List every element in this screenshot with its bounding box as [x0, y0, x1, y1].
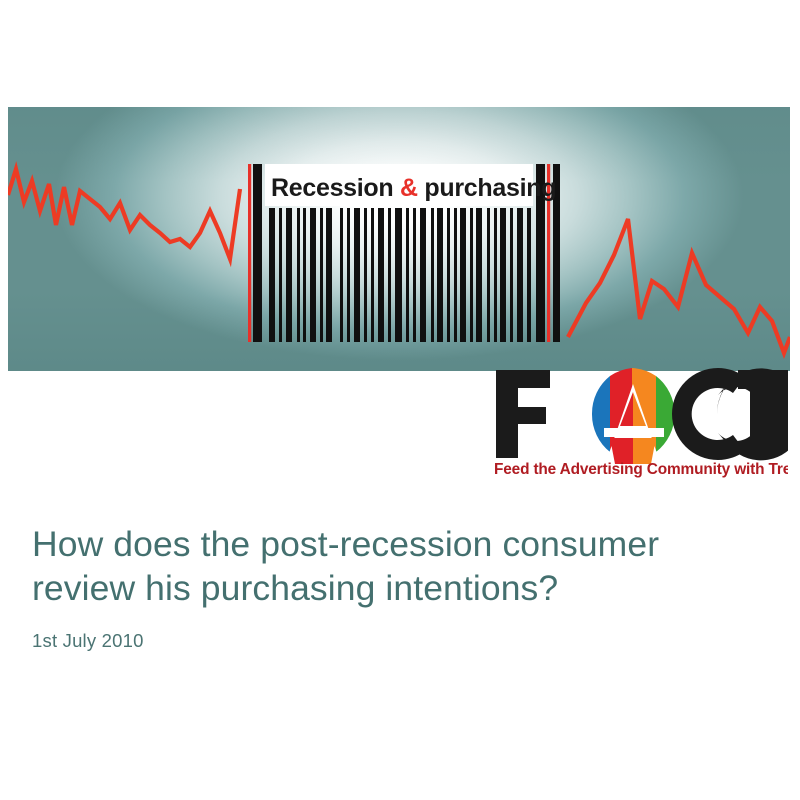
logo-mark-a-crossbar-gap	[604, 428, 664, 437]
barcode-graphic: Recession & purchasing intention	[247, 164, 561, 344]
fact-logo: Feed the Advertising Community with Tren…	[492, 366, 788, 478]
barcode-caption: Recession & purchasing intention	[271, 174, 561, 202]
decline-line-right	[568, 219, 790, 353]
title-slide: Recession & purchasing intention	[0, 0, 800, 800]
logo-mark-circle-a	[592, 368, 675, 464]
barcode-guard-left	[248, 164, 251, 342]
barcode-caption-before: Recession	[271, 174, 400, 202]
logo-segment-green	[656, 376, 675, 452]
page-title: How does the post-recession consumer rev…	[32, 522, 752, 610]
title-block: How does the post-recession consumer rev…	[32, 522, 752, 652]
barcode-caption-accent: &	[400, 174, 418, 202]
barcode-caption-after: purchasing intention	[418, 174, 561, 202]
fact-logo-svg: Feed the Advertising Community with Tren…	[492, 366, 788, 478]
recession-banner-image: Recession & purchasing intention	[8, 107, 790, 371]
slide-date: 1st July 2010	[32, 610, 752, 652]
logo-tagline: Feed the Advertising Community with Tren…	[494, 461, 788, 478]
logo-letter-f	[496, 370, 550, 458]
barcode-bar-terminator-left	[253, 164, 262, 342]
barcode-bars	[269, 208, 531, 342]
barcode-svg: Recession & purchasing intention	[247, 164, 561, 344]
decline-line-left	[8, 169, 240, 259]
logo-segment-blue	[592, 376, 610, 452]
